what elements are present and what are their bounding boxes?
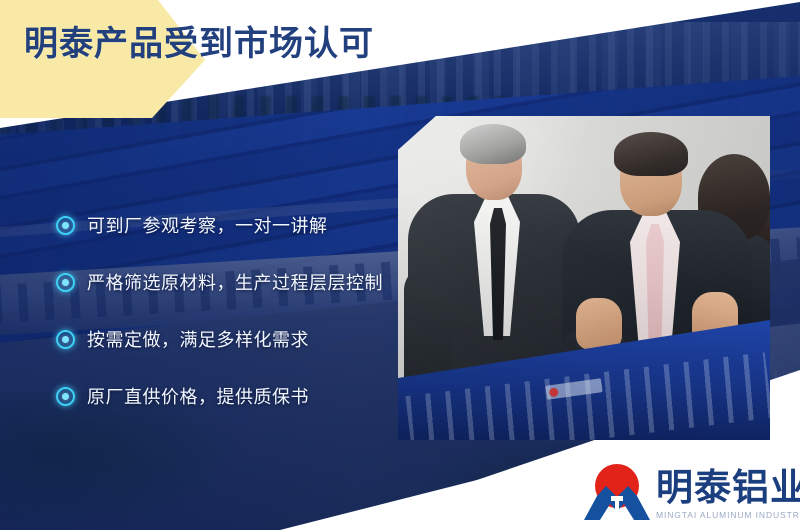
hero-photo: [398, 116, 770, 440]
person-left-hair: [460, 124, 526, 164]
brand-wordmark: 明泰铝业 MINGTAI ALUMINUM INDUSTRY CO., LTD: [656, 469, 800, 520]
target-bullet-icon: [56, 330, 75, 349]
brand-name-en: MINGTAI ALUMINUM INDUSTRY CO., LTD: [656, 510, 800, 520]
mingtai-sun-mountain-logo-icon: [584, 464, 650, 520]
person-center-hair: [614, 132, 688, 176]
feature-label: 按需定做，满足多样化需求: [87, 326, 309, 352]
factory-building-logo: [545, 378, 602, 400]
person-center-left-hand: [576, 298, 622, 350]
feature-label: 原厂直供价格，提供质保书: [87, 383, 309, 409]
list-item: 原厂直供价格，提供质保书: [56, 383, 386, 409]
feature-list: 可到厂参观考察，一对一讲解 严格筛选原材料，生产过程层层控制 按需定做，满足多样…: [56, 212, 386, 409]
page-title: 明泰产品受到市场认可: [24, 24, 374, 64]
list-item: 严格筛选原材料，生产过程层层控制: [56, 269, 386, 295]
target-bullet-icon: [56, 216, 75, 235]
feature-label: 严格筛选原材料，生产过程层层控制: [87, 269, 383, 295]
brand-name-cn: 明泰铝业: [656, 469, 800, 506]
feature-label: 可到厂参观考察，一对一讲解: [87, 212, 328, 238]
target-bullet-icon: [56, 273, 75, 292]
brand-logo[interactable]: 明泰铝业 MINGTAI ALUMINUM INDUSTRY CO., LTD: [584, 458, 800, 520]
promo-banner: 明泰产品受到市场认可 可到厂参观考察，一对一讲解 严格筛选原材料，生产过程层层控…: [0, 0, 800, 530]
list-item: 按需定做，满足多样化需求: [56, 326, 386, 352]
target-bullet-icon: [56, 387, 75, 406]
list-item: 可到厂参观考察，一对一讲解: [56, 212, 386, 238]
